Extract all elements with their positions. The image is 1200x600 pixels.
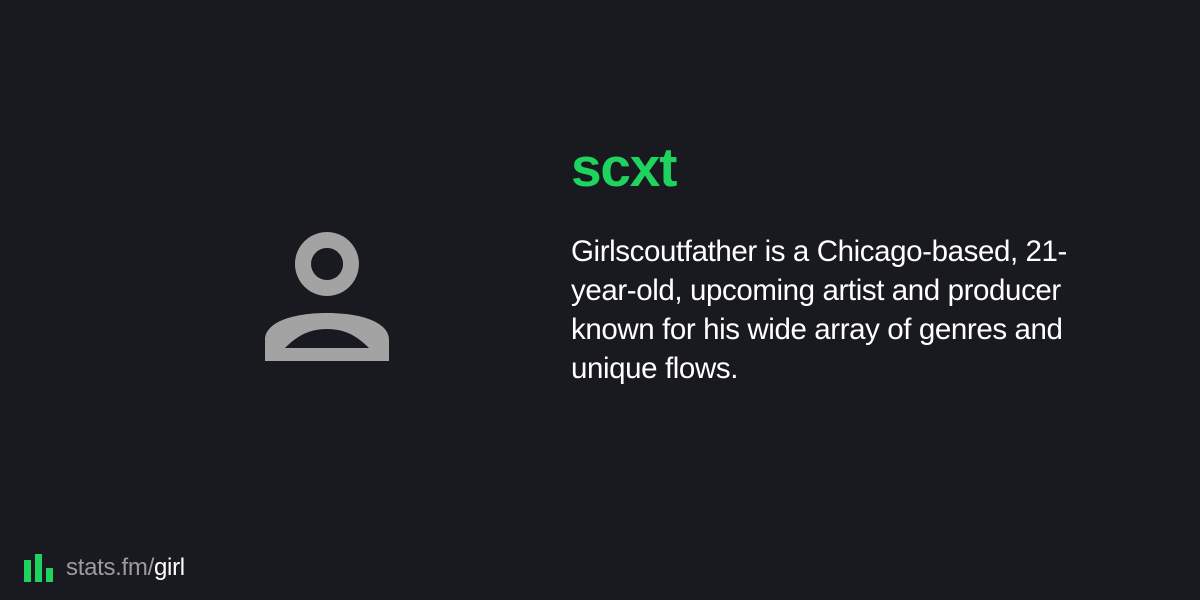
artist-share-card: scxt Girlscoutfather is a Chicago-based,… xyxy=(0,0,1200,600)
brand-username: girl xyxy=(154,554,185,581)
artist-info: scxt Girlscoutfather is a Chicago-based,… xyxy=(571,139,1131,388)
stats-fm-bars-icon xyxy=(24,552,54,582)
artist-name: scxt xyxy=(571,139,1131,197)
brand-label: stats.fm/girl xyxy=(66,555,185,582)
brand-footer[interactable]: stats.fm/girl xyxy=(24,552,185,582)
brand-domain: stats.fm/ xyxy=(66,554,154,581)
avatar xyxy=(263,230,393,364)
artist-bio: Girlscoutfather is a Chicago-based, 21-y… xyxy=(571,197,1116,388)
person-placeholder-icon xyxy=(263,230,393,364)
